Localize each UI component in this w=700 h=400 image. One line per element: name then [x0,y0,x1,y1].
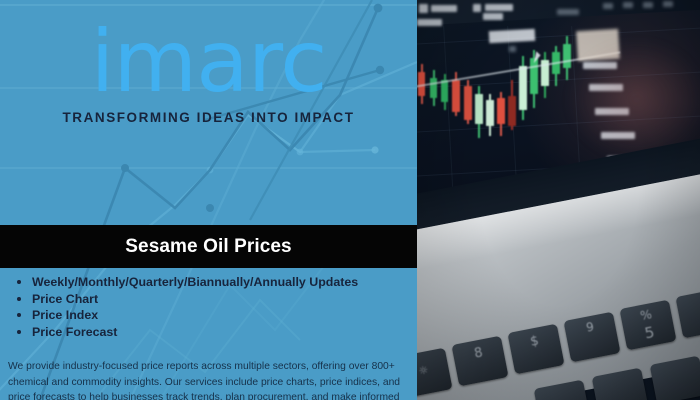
page-title: Sesame Oil Prices [125,236,291,258]
price-report-banner: imarc TRANSFORMING IDEAS INTO IMPACT Ses… [0,0,700,400]
list-item: Weekly/Monthly/Quarterly/Biannually/Annu… [14,274,417,291]
list-item: Price Chart [14,291,417,308]
imarc-logo-wordmark: imarc [90,22,326,104]
product-title-band: Sesame Oil Prices [0,225,417,268]
photo-vignette [417,0,700,400]
list-item: Price Forecast [14,324,417,341]
trading-screen-photo: ☼ 8 $ 9 % 5 [417,0,700,400]
description-paragraph: We provide industry-focused price report… [8,359,408,400]
list-item: Price Index [14,307,417,324]
feature-list: Weekly/Monthly/Quarterly/Biannually/Annu… [0,274,417,340]
feature-label: Price Chart [32,292,98,306]
left-info-panel: imarc TRANSFORMING IDEAS INTO IMPACT Ses… [0,0,417,400]
feature-label: Weekly/Monthly/Quarterly/Biannually/Annu… [32,275,358,289]
feature-label: Price Index [32,308,98,322]
brand-logo-block: imarc TRANSFORMING IDEAS INTO IMPACT [0,22,417,125]
feature-label: Price Forecast [32,325,117,339]
